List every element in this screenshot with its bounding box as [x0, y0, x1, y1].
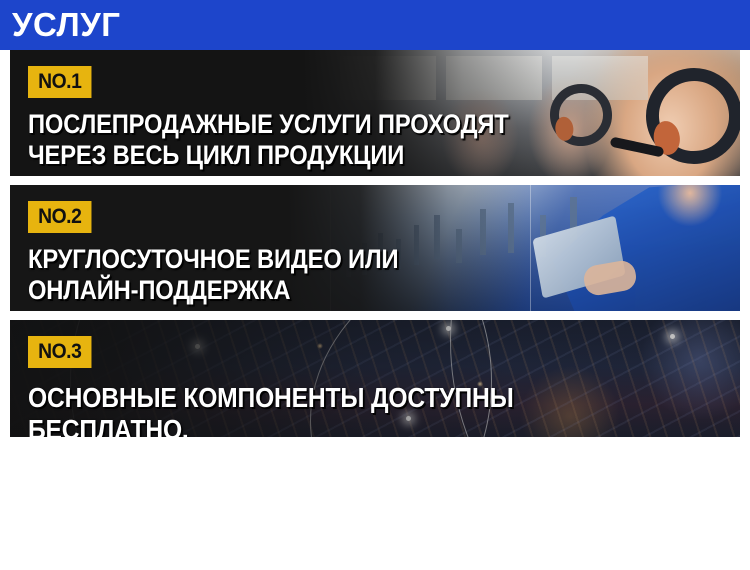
service-banner-3[interactable]: NO.3 ОСНОВНЫЕ КОМПОНЕНТЫ ДОСТУПНЫ БЕСПЛА…	[10, 320, 740, 437]
page-title: УСЛУГ	[12, 6, 120, 44]
banner-3-content: NO.3 ОСНОВНЫЕ КОМПОНЕНТЫ ДОСТУПНЫ БЕСПЛА…	[10, 320, 740, 437]
banner-3-headline: ОСНОВНЫЕ КОМПОНЕНТЫ ДОСТУПНЫ БЕСПЛАТНО.	[28, 382, 655, 437]
page-header-bar: УСЛУГ	[0, 0, 750, 50]
service-banner-2[interactable]: NO.2 КРУГЛОСУТОЧНОЕ ВИДЕО ИЛИ ОНЛАЙН-ПОД…	[10, 185, 740, 311]
banner-1-content: NO.1 ПОСЛЕПРОДАЖНЫЕ УСЛУГИ ПРОХОДЯТ ЧЕРЕ…	[10, 50, 740, 171]
service-banner-list: NO.1 ПОСЛЕПРОДАЖНЫЕ УСЛУГИ ПРОХОДЯТ ЧЕРЕ…	[0, 50, 750, 446]
banner-1-badge: NO.1	[28, 66, 91, 98]
banner-1-headline: ПОСЛЕПРОДАЖНЫЕ УСЛУГИ ПРОХОДЯТ ЧЕРЕЗ ВЕС…	[28, 109, 655, 171]
banner-2-headline: КРУГЛОСУТОЧНОЕ ВИДЕО ИЛИ ОНЛАЙН-ПОДДЕРЖК…	[28, 244, 655, 306]
banner-2-content: NO.2 КРУГЛОСУТОЧНОЕ ВИДЕО ИЛИ ОНЛАЙН-ПОД…	[10, 185, 740, 306]
banner-3-badge: NO.3	[28, 336, 91, 368]
banner-2-badge: NO.2	[28, 201, 91, 233]
service-banner-1[interactable]: NO.1 ПОСЛЕПРОДАЖНЫЕ УСЛУГИ ПРОХОДЯТ ЧЕРЕ…	[10, 50, 740, 176]
